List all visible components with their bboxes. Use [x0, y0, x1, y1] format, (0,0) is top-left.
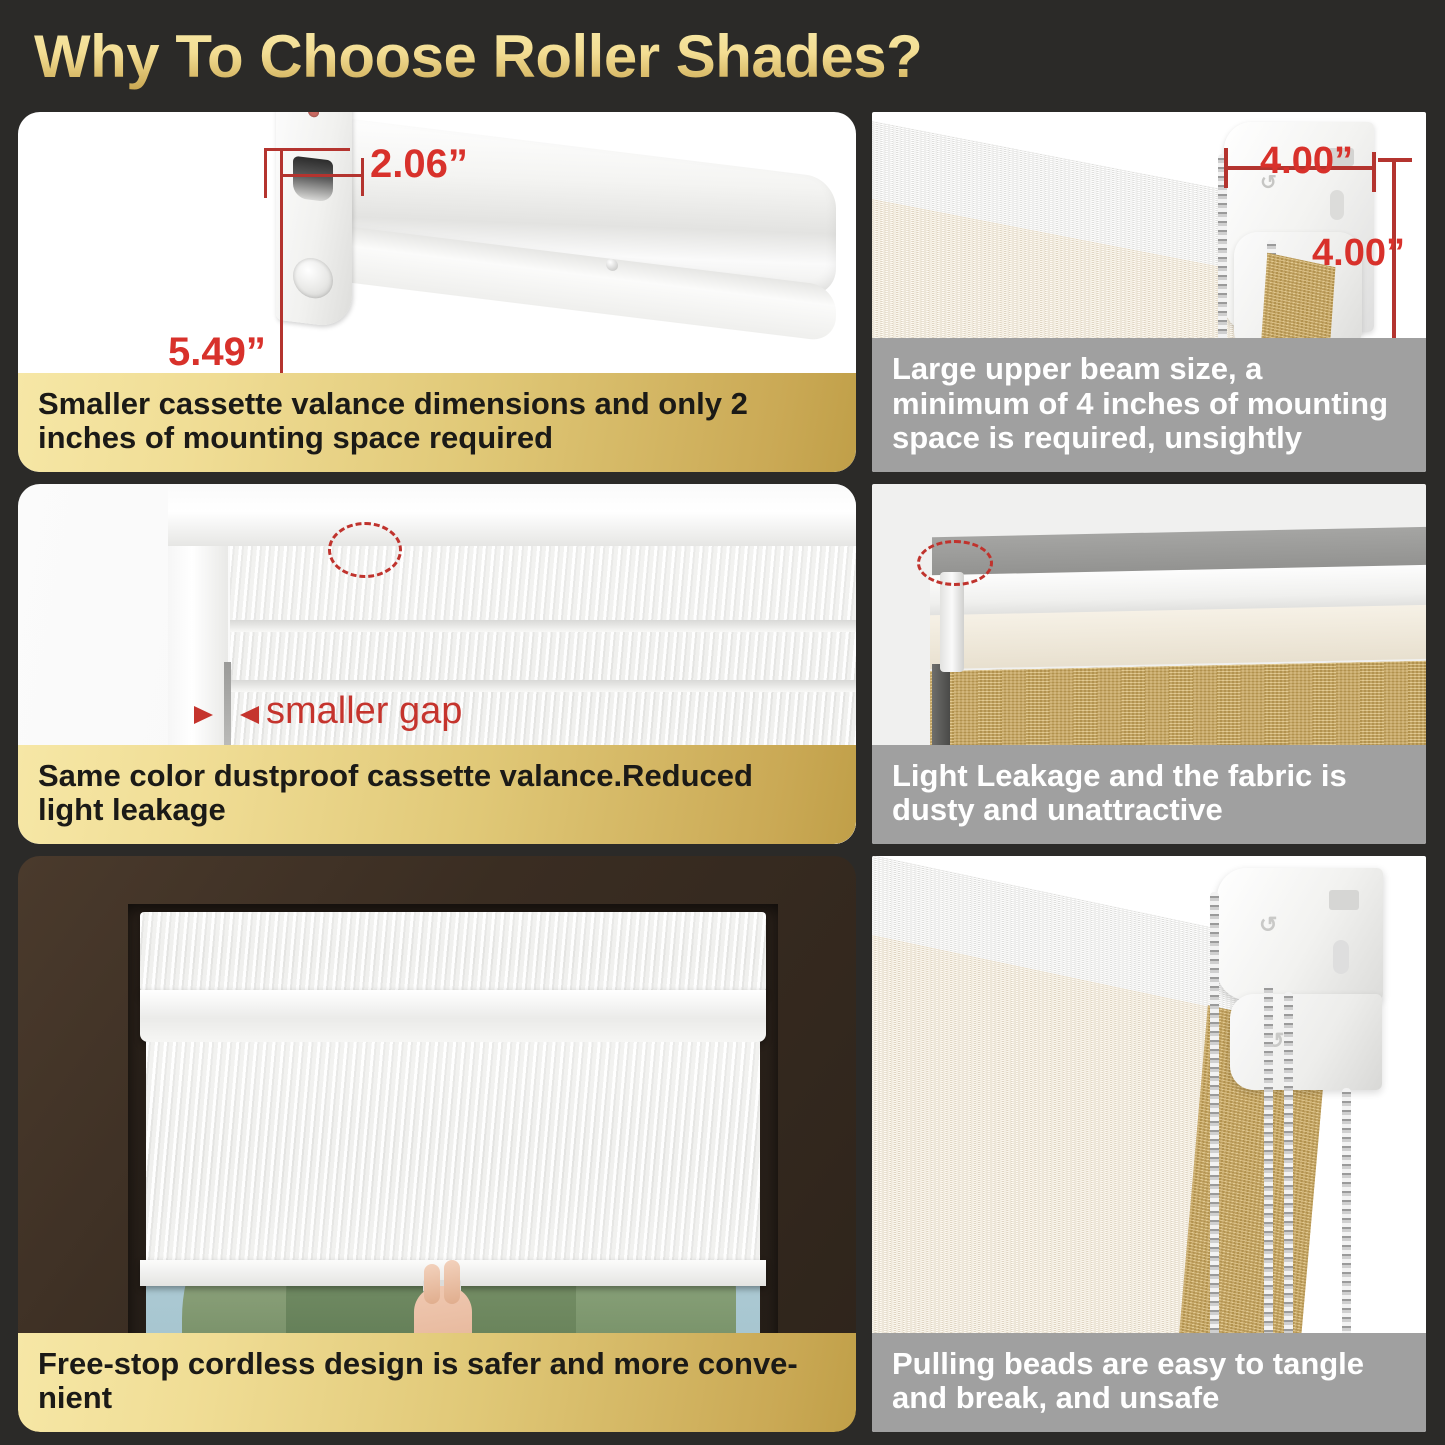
page-title: Why To Choose Roller Shades?: [34, 22, 922, 91]
dim-height-tick-top: [1378, 158, 1412, 162]
roller-bracket-upper: ↺: [1217, 868, 1383, 1000]
dim-width-tick-right: [361, 158, 364, 196]
panel-pro-cassette-size: 2.06” 5.49” Smaller cassette valance dim…: [18, 112, 856, 472]
caption-con-beam-size: Large upper beam size, a minimum of 4 in…: [872, 338, 1426, 472]
panel-con-beam-size: ↺ ↺ 4.00” 4.00” Large upper beam size, a…: [872, 112, 1426, 472]
dim-width-tick-left: [1224, 148, 1228, 188]
caption-line: Light Leakage and the fabric is: [892, 759, 1406, 794]
bracket-screw-icon: [308, 112, 319, 118]
valance-lip: [140, 990, 766, 1042]
roller-bracket-lower: ↺: [1230, 994, 1382, 1090]
dim-top-tick-left: [264, 148, 267, 198]
gap-label: smaller gap: [266, 690, 462, 733]
panel-con-large-gap: Large gap Light Leakage and the fabric i…: [872, 484, 1426, 844]
dim-width-label: 2.06”: [370, 142, 468, 187]
caption-pro-small-gap: Same color dustproof cassette valance.Re…: [18, 745, 856, 844]
caption-pro-cassette-size: Smaller cassette valance dimensions and …: [18, 373, 856, 472]
dim-height-label: 4.00”: [1312, 232, 1405, 275]
caption-line: Pulling beads are easy to tangle: [892, 1347, 1406, 1382]
bracket-knob-icon: [293, 256, 333, 301]
caption-line: minimum of 4 inches of mounting: [892, 387, 1406, 422]
dim-width-bar: [282, 174, 364, 177]
window-head-casing: [168, 484, 856, 546]
finger-graphic: [444, 1260, 460, 1304]
caption-con-beads: Pulling beads are easy to tangle and bre…: [872, 1333, 1426, 1432]
caption-con-large-gap: Light Leakage and the fabric is dusty an…: [872, 745, 1426, 844]
dim-width-tick-right: [1372, 152, 1376, 192]
bracket-slot-icon: [1333, 940, 1349, 974]
shade-mid-rail: [230, 620, 856, 632]
cassette-valance: [140, 912, 766, 998]
caption-line: and break, and unsafe: [892, 1381, 1406, 1416]
shade-fabric: [146, 1042, 760, 1270]
valance-cream-band: [930, 605, 1426, 670]
roller-bracket: [940, 572, 964, 672]
highlight-circle-annotation: [917, 540, 993, 586]
bracket-mount-hole-icon: [1329, 890, 1359, 910]
dim-height-tick-top: [264, 148, 308, 151]
caption-line: Same color dustproof cassette valance.Re…: [38, 759, 836, 794]
highlight-circle-annotation: [328, 522, 402, 578]
panel-pro-small-gap: smaller gap Same color dustproof cassett…: [18, 484, 856, 844]
caption-line: Free-stop cordless design is safer and m…: [38, 1347, 836, 1382]
caption-line: dusty and unattractive: [892, 793, 1406, 828]
bracket-slot-icon: [1330, 190, 1344, 220]
caption-line: nient: [38, 1381, 836, 1416]
panel-con-beads: ↺ ↺ Pulling beads are easy to tangle and…: [872, 856, 1426, 1432]
caption-line: inches of mounting space required: [38, 421, 836, 456]
caption-line: Large upper beam size, a: [892, 352, 1406, 387]
gap-arrow-right-icon: [240, 706, 259, 724]
caption-pro-cordless: Free-stop cordless design is safer and m…: [18, 1333, 856, 1432]
dim-height-label: 5.49”: [168, 330, 266, 375]
caption-line: light leakage: [38, 793, 836, 828]
finger-graphic: [424, 1264, 440, 1304]
gap-arrow-left-icon: [194, 706, 213, 724]
panel-pro-cordless: Free-stop cordless design is safer and m…: [18, 856, 856, 1432]
caption-line: Smaller cassette valance dimensions and …: [38, 387, 836, 422]
bracket-arrow-icon: ↺: [1259, 912, 1277, 938]
bracket-slot-icon: [293, 156, 333, 203]
caption-line: space is required, unsightly: [892, 421, 1406, 456]
dim-width-label: 4.00”: [1260, 140, 1353, 183]
valance-end-bracket: [276, 112, 352, 329]
infographic-page: Why To Choose Roller Shades? 2.06”: [0, 0, 1445, 1445]
